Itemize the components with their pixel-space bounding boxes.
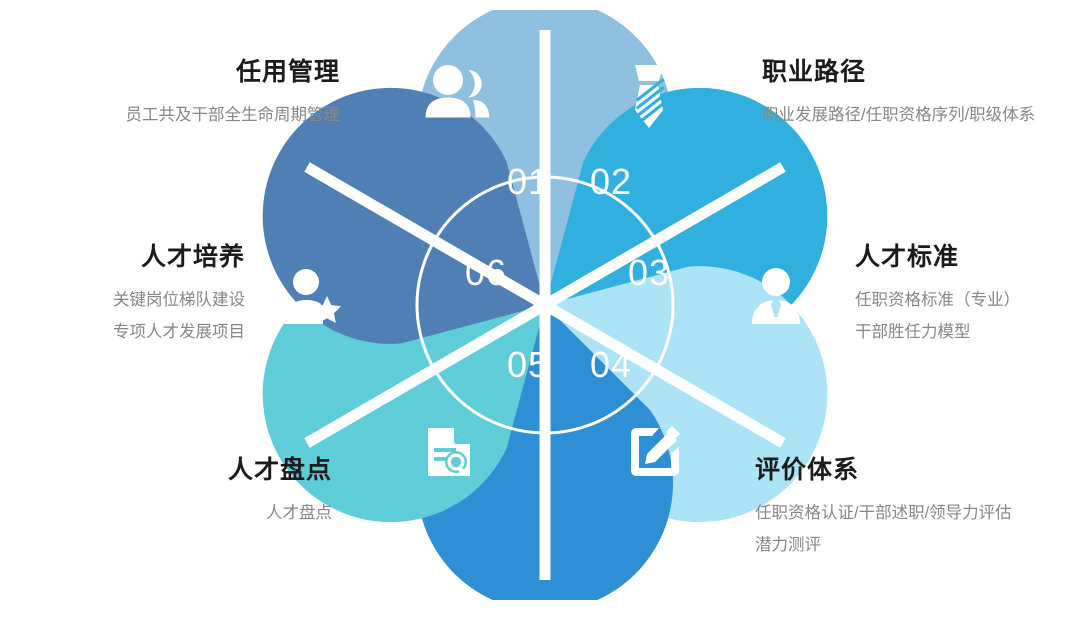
label-petal-06-subtitle-line-2: 专项人才发展项目 <box>20 316 245 348</box>
infographic-canvas: 01 02 03 04 05 06 <box>0 0 1081 626</box>
petal-05-number: 05 <box>507 344 549 385</box>
label-petal-04-title: 评价体系 <box>755 458 1080 483</box>
label-petal-03-subtitle-line-2: 干部胜任力模型 <box>855 316 1080 348</box>
label-petal-04: 评价体系 任职资格认证/干部述职/领导力评估 潜力测评 <box>755 458 1080 561</box>
label-petal-06: 人才培养 关键岗位梯队建设 专项人才发展项目 <box>20 245 245 348</box>
label-petal-05-subtitle-line-1: 人才盘点 <box>90 497 332 529</box>
label-petal-03-subtitle-line-1: 任职资格标准（专业） <box>855 284 1080 316</box>
petal-02-number: 02 <box>590 161 632 202</box>
label-petal-05-title: 人才盘点 <box>90 458 332 483</box>
petal-01-number: 01 <box>507 161 549 202</box>
label-petal-01: 任用管理 员工共及干部全生命周期管理 <box>20 60 340 131</box>
label-petal-04-subtitle-line-1: 任职资格认证/干部述职/领导力评估 <box>755 497 1080 529</box>
label-petal-05: 人才盘点 人才盘点 <box>90 458 332 529</box>
label-petal-03-title: 人才标准 <box>855 245 1080 270</box>
label-petal-01-title: 任用管理 <box>20 60 340 85</box>
label-petal-02-title: 职业路径 <box>762 60 1072 85</box>
label-petal-01-subtitle-line-1: 员工共及干部全生命周期管理 <box>20 99 340 131</box>
petal-06-number: 06 <box>465 252 507 293</box>
petal-04-number: 04 <box>590 344 632 385</box>
label-petal-03: 人才标准 任职资格标准（专业） 干部胜任力模型 <box>855 245 1080 348</box>
petal-03-number: 03 <box>628 252 670 293</box>
label-petal-02-subtitle-line-1: 职业发展路径/任职资格序列/职级体系 <box>762 99 1072 131</box>
label-petal-06-subtitle-line-1: 关键岗位梯队建设 <box>20 284 245 316</box>
label-petal-04-subtitle-line-2: 潜力测评 <box>755 529 1080 561</box>
label-petal-02: 职业路径 职业发展路径/任职资格序列/职级体系 <box>762 60 1072 131</box>
label-petal-06-title: 人才培养 <box>20 245 245 270</box>
